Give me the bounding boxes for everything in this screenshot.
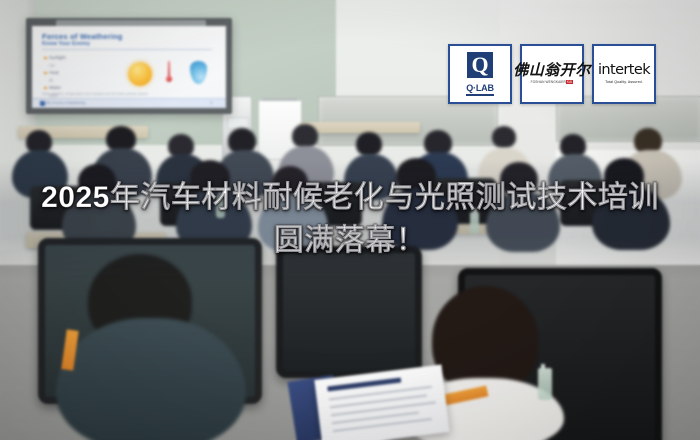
foshan-wengkaier-wordmark: 佛山翁开尔 xyxy=(513,64,591,79)
desk xyxy=(300,122,420,133)
event-recap-poster: Forces of Weathering Know Your Enemy Sun… xyxy=(0,0,700,440)
water-bottle xyxy=(470,212,479,234)
projector-screen: Forces of Weathering Know Your Enemy Sun… xyxy=(26,18,232,114)
bullet-marker-icon xyxy=(44,87,47,90)
sponsor-logo-band: Q Q·LAB 佛山翁开尔 FOSHAN WENGKAIERKAI intert… xyxy=(448,44,656,104)
attendee-head xyxy=(492,126,516,148)
slide-divider xyxy=(42,49,212,50)
bullet-marker-icon xyxy=(44,57,47,60)
foshan-wengkaier-logo: 佛山翁开尔 FOSHAN WENGKAIERKAI xyxy=(513,64,591,84)
slide-bullet: Water xyxy=(44,84,114,92)
intertek-wordmark: intertek xyxy=(598,63,650,78)
logo-tile-foshan-wengkaier[interactable]: 佛山翁开尔 FOSHAN WENGKAIERKAI xyxy=(520,44,584,104)
water-bottle xyxy=(216,196,225,218)
foshan-wengkaier-badge: KAI xyxy=(566,80,573,84)
water-drop-icon xyxy=(190,61,207,84)
water-bottle xyxy=(538,368,552,400)
attendee-body xyxy=(486,192,560,252)
handout-title-block xyxy=(327,378,401,392)
attendee-body xyxy=(592,188,670,250)
attendee-body xyxy=(258,194,328,252)
foshan-wengkaier-subtext: FOSHAN WENGKAIERKAI xyxy=(513,81,591,84)
sun-icon xyxy=(128,62,152,86)
attendee-head xyxy=(292,124,318,148)
office-chair xyxy=(276,246,422,378)
intertek-tagline: Total Quality. Assured. xyxy=(598,81,650,85)
slide-bullet: Heat xyxy=(44,69,114,77)
bullet-marker-icon xyxy=(44,72,47,75)
thermometer-icon xyxy=(166,61,172,87)
attendee-head xyxy=(500,162,538,196)
attendee-body xyxy=(382,188,458,250)
q-lab-wordmark: Q·LAB xyxy=(466,84,494,96)
slide-title: Forces of Weathering xyxy=(42,32,123,41)
slide-footer: Q-LAB | Forces of Weathering 3 xyxy=(32,98,226,108)
slide-bullet-sub: IR xyxy=(44,77,114,85)
intertek-logo: intertek Total Quality. Assured. xyxy=(598,63,650,84)
logo-tile-q-lab[interactable]: Q Q·LAB xyxy=(448,44,512,104)
q-lab-mark-icon: Q xyxy=(467,52,493,78)
slide-footer-mark-icon xyxy=(40,101,45,106)
presentation-slide: Forces of Weathering Know Your Enemy Sun… xyxy=(32,26,226,108)
slide-bullet-sub: UV xyxy=(44,62,114,70)
slide-page-number: 3 xyxy=(210,101,212,105)
thermometer-bulb xyxy=(166,76,172,82)
q-lab-logo: Q Q·LAB xyxy=(466,52,494,96)
logo-tile-intertek[interactable]: intertek Total Quality. Assured. xyxy=(592,44,656,104)
slide-subtitle: Know Your Enemy xyxy=(42,41,90,47)
slide-bullet: Sunlight xyxy=(44,54,114,62)
slide-footer-text: Q-LAB | Forces of Weathering xyxy=(40,101,85,105)
attendee-head xyxy=(356,132,382,156)
slide-footnote: Solar radiation, temperature and moistur… xyxy=(42,92,148,96)
